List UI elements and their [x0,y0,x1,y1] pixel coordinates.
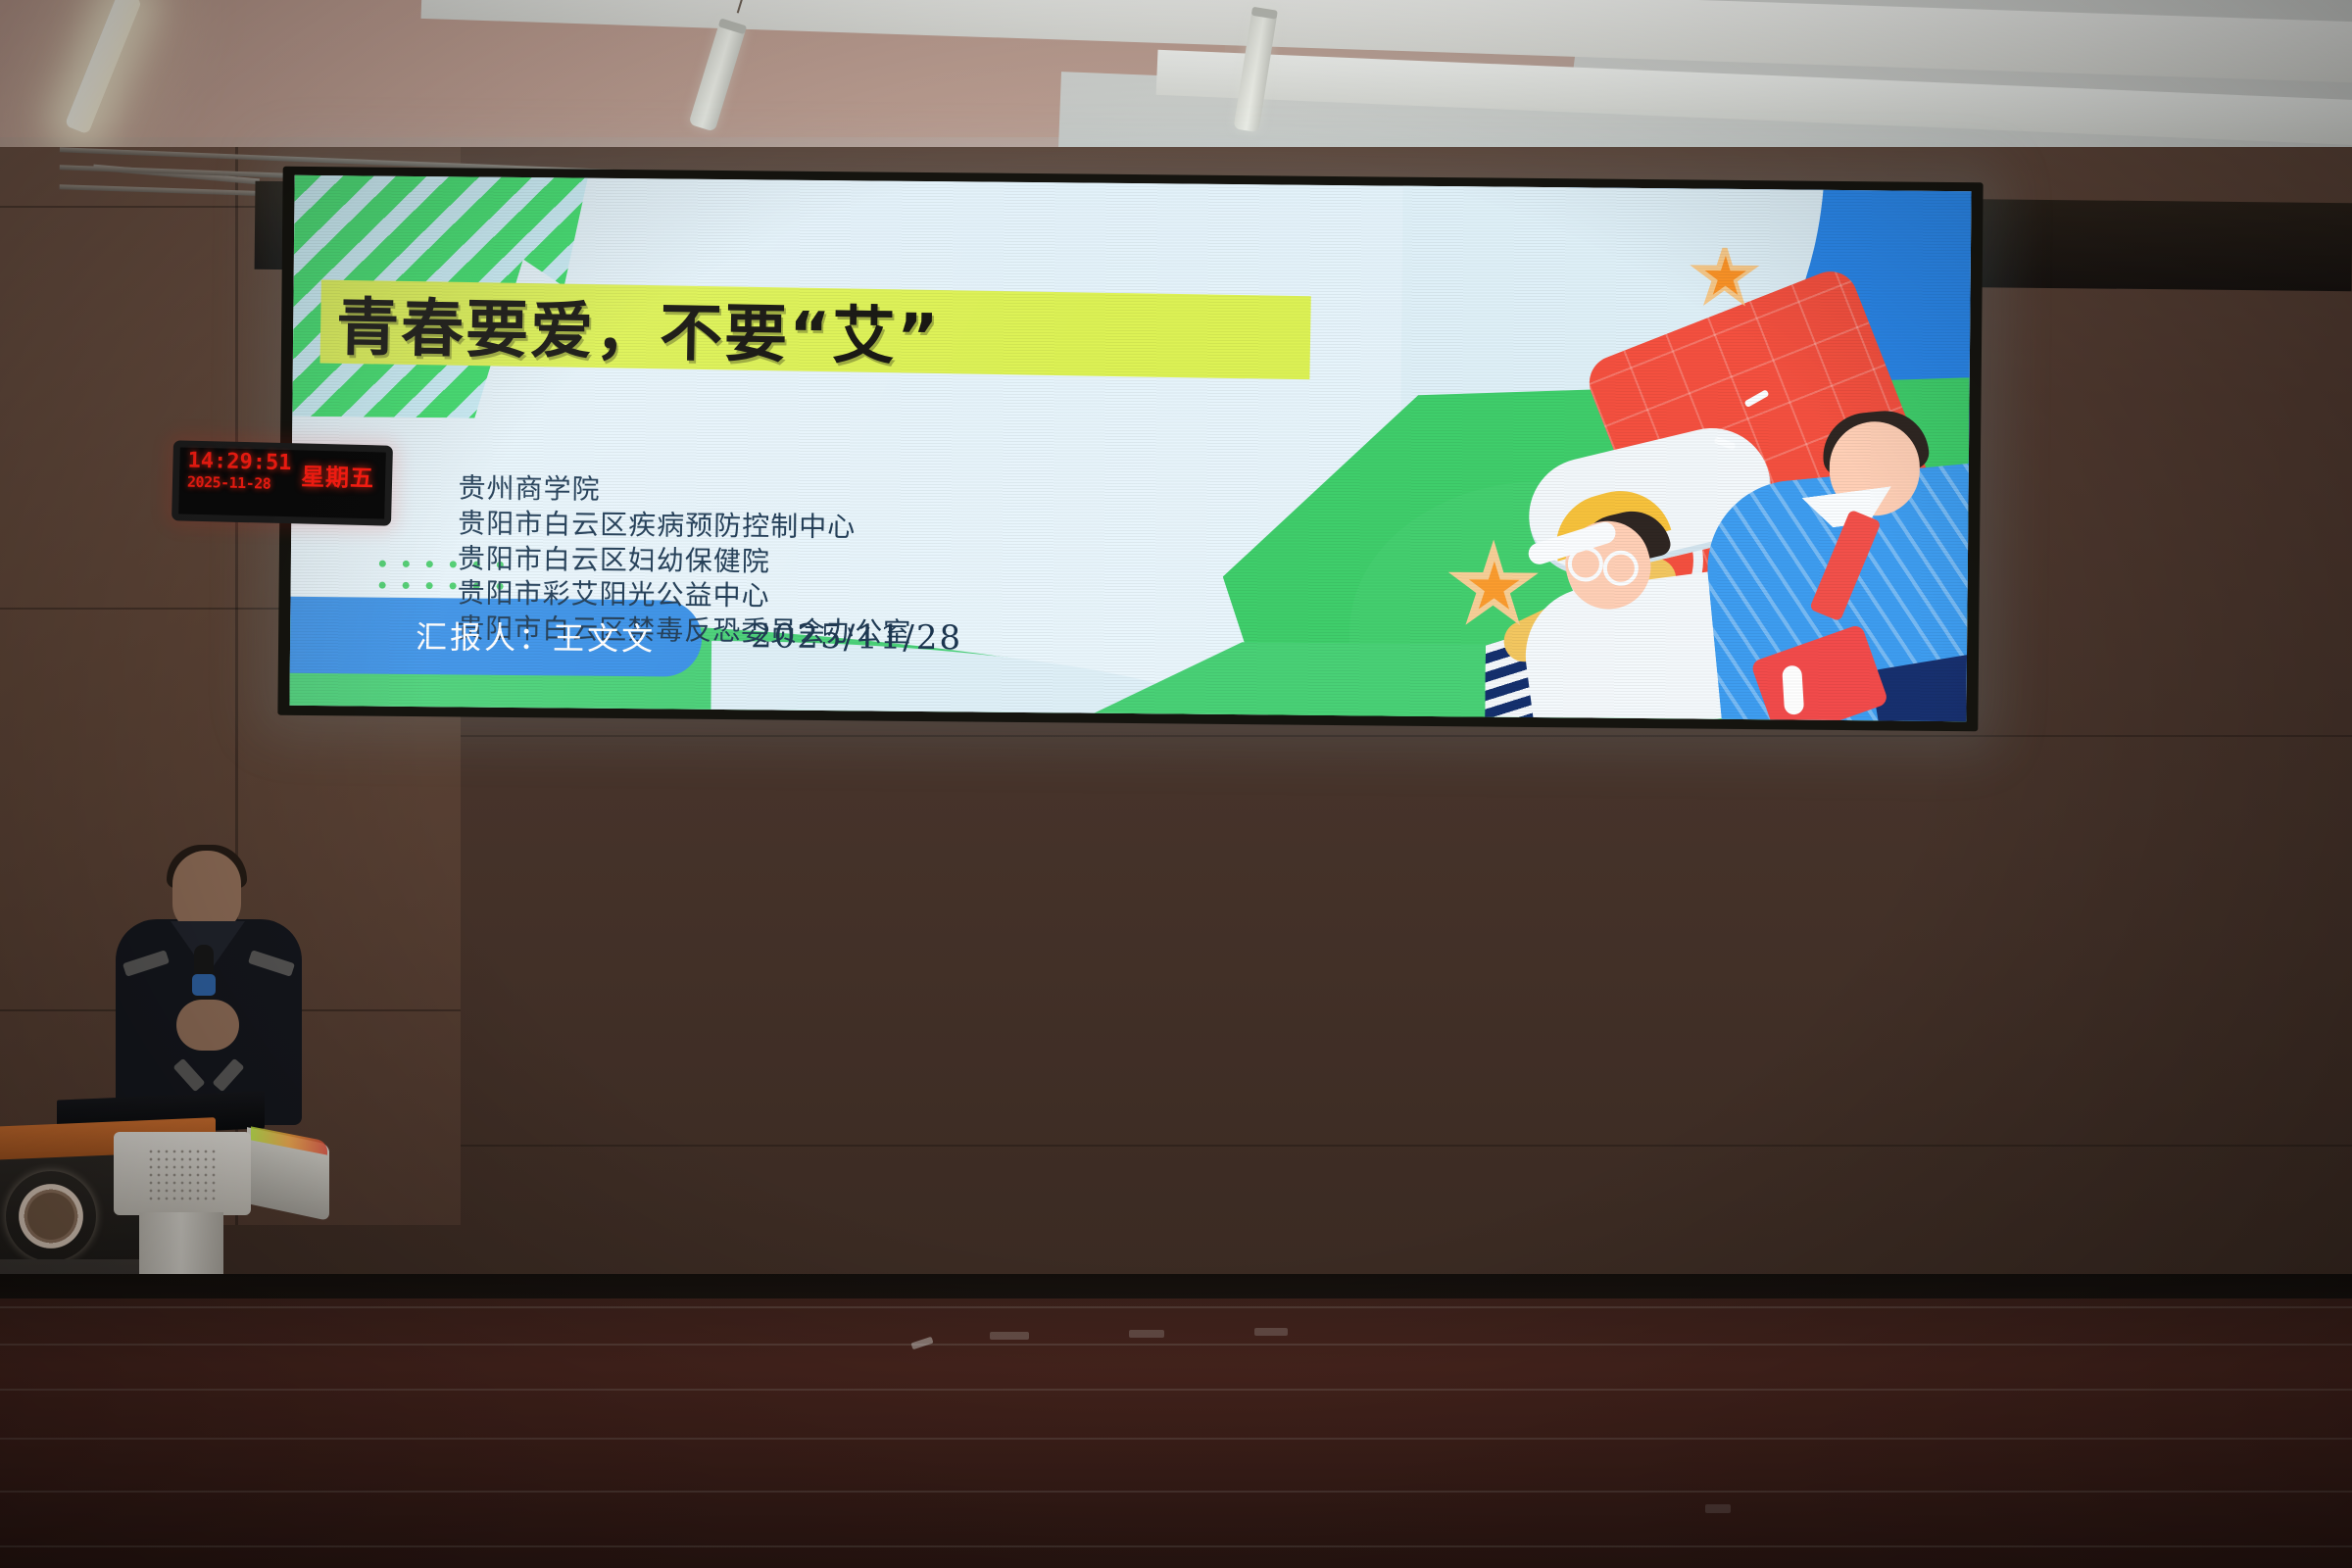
organization-item: 贵阳市白云区妇幼保健院 [458,541,912,580]
university-emblem-icon [6,1171,96,1261]
led-screen[interactable]: 青春要爱，不要“艾” 贵州商学院 贵阳市白云区疾病预防控制中心 贵阳市白云区妇幼… [289,175,1971,721]
floor-plank-line [0,1491,2352,1493]
clock-date: 2025-11-28 [187,472,291,495]
glasses-icon-left [1568,546,1603,581]
organization-item: 贵阳市彩艾阳光公益中心 [457,576,911,615]
emblem-center [27,1193,74,1240]
organization-item: 贵州商学院 [458,470,912,510]
star-icon-top-inner [1703,256,1746,299]
clock-weekday: 星期五 [301,457,375,493]
floor-debris [1254,1328,1288,1336]
clock-time: 14:29:51 [187,451,291,475]
speaker-hands [176,1000,239,1051]
lectern-speaker-mesh [147,1148,216,1204]
stage-floor [0,1298,2352,1568]
lectern-head [114,1132,251,1215]
floor-debris [990,1332,1029,1340]
student-illustration [1417,245,1971,721]
floor-plank-line [0,1438,2352,1440]
floor-plank-line [0,1389,2352,1391]
led-clock-display: 14:29:51 2025-11-28 星期五 [178,447,386,518]
presentation-slide: 青春要爱，不要“艾” 贵州商学院 贵阳市白云区疾病预防控制中心 贵阳市白云区妇幼… [289,175,1971,721]
floor-debris [910,1337,933,1349]
speaker-head [172,851,241,933]
slide-title: 青春要爱，不要“艾” [336,282,1317,379]
floor-plank-line [0,1545,2352,1547]
slide-date: 2025/11/28 [751,616,962,658]
floor-debris [1129,1330,1164,1338]
led-clock: 14:29:51 2025-11-28 星期五 [171,440,393,525]
auditorium-scene: 青春要爱，不要“艾” 贵州商学院 贵阳市白云区疾病预防控制中心 贵阳市白云区妇幼… [0,0,2352,1568]
floor-debris [1705,1504,1731,1513]
microphone-band [192,974,216,996]
floor-plank-line [0,1306,2352,1308]
organization-item: 贵阳市白云区疾病预防控制中心 [458,506,912,545]
star-icon-left-inner [1467,561,1521,614]
floor-plank-line [0,1344,2352,1346]
glasses-icon-right [1603,551,1639,586]
led-screen-frame: 青春要爱，不要“艾” 贵州商学院 贵阳市白云区疾病预防控制中心 贵阳市白云区妇幼… [277,167,1983,732]
presenter-label: 汇报人：王文文 [416,612,656,660]
